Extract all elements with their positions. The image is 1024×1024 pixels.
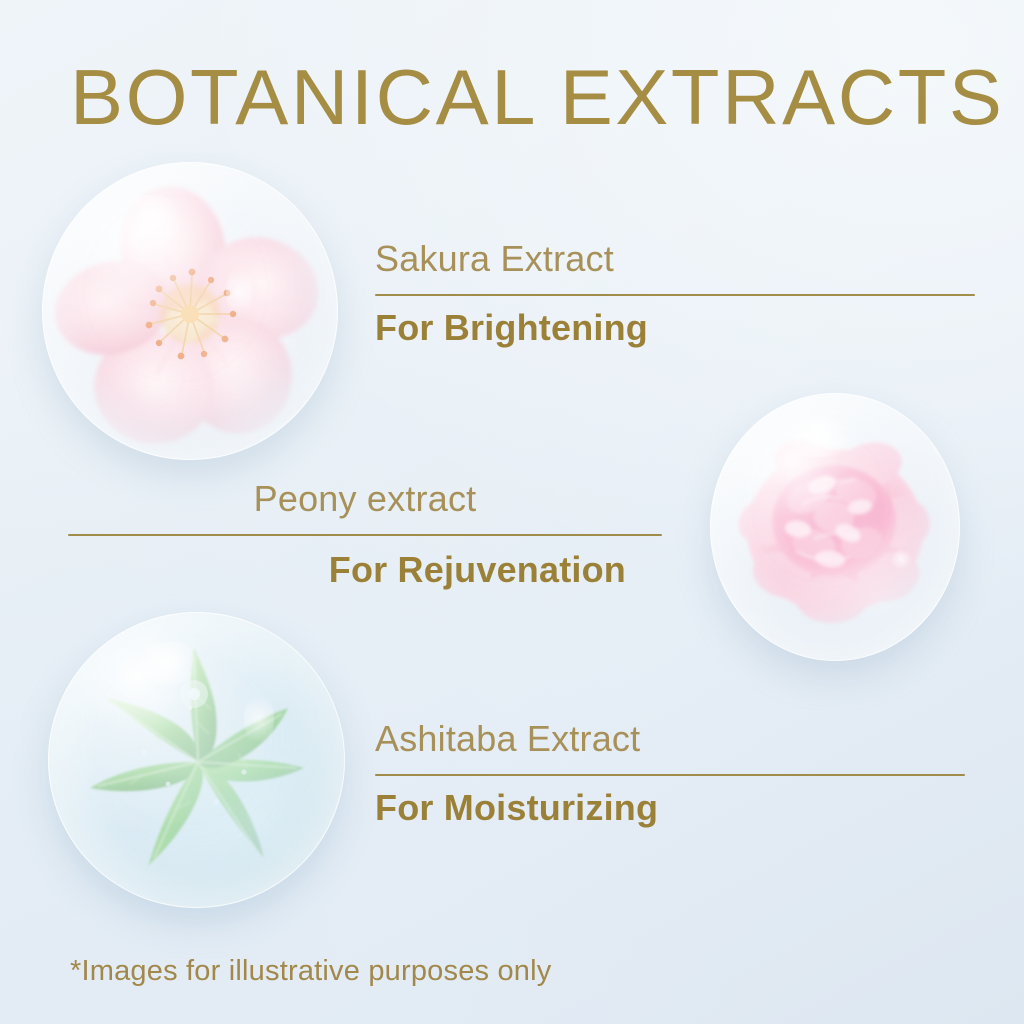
sakura-blossom-in-water-bubble (42, 162, 338, 460)
peony-flower-in-glass-sphere (710, 393, 960, 661)
sphere-highlight (778, 417, 858, 457)
divider-rule-ashitaba (375, 774, 965, 776)
bubble-highlight (113, 195, 191, 239)
extract-block-peony: Peony extract For Rejuvenation (68, 478, 662, 592)
divider-rule-sakura (375, 294, 975, 296)
bubble-highlight (125, 642, 209, 684)
bubble-highlight-secondary (244, 689, 274, 749)
extract-block-sakura: Sakura Extract For Brightening (375, 238, 975, 350)
page-title: BOTANICAL EXTRACTS (70, 56, 978, 138)
extract-block-ashitaba: Ashitaba Extract For Moisturizing (375, 718, 965, 830)
extract-benefit-ashitaba: For Moisturizing (375, 786, 965, 830)
bubble-rim (42, 162, 338, 460)
botanical-extracts-poster: BOTANICAL EXTRACTS (0, 0, 1024, 1024)
extract-name-sakura: Sakura Extract (375, 238, 975, 280)
divider-rule-peony (68, 534, 662, 536)
ashitaba-leaves-in-water-bubble (48, 612, 345, 908)
disclaimer-footnote: *Images for illustrative purposes only (70, 955, 551, 988)
bubble-highlight-secondary (226, 263, 252, 321)
extract-name-peony: Peony extract (68, 478, 662, 520)
extract-benefit-peony: For Rejuvenation (68, 548, 662, 592)
extract-benefit-sakura: For Brightening (375, 306, 975, 350)
extract-name-ashitaba: Ashitaba Extract (375, 718, 965, 760)
